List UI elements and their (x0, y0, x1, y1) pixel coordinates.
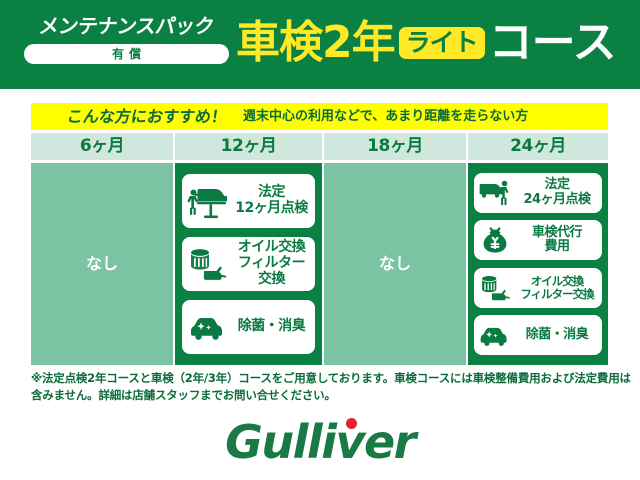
service-item-legal-12month-inspection: 法定 12ヶ月点検 (182, 174, 315, 228)
service-item-text: 法定 12ヶ月点検 (228, 185, 315, 216)
recommendation-bar: こんな方におすすめ！ 週末中心の利用などで、あまり距離を走らない方 (31, 103, 608, 130)
service-item-text: 除菌・消臭 (512, 328, 602, 343)
money-bag-yen-icon (478, 224, 512, 256)
column-header-12months: 12ヶ月 (175, 133, 322, 160)
column-header-label: 24ヶ月 (510, 138, 566, 155)
service-item-text: オイル交換 フィルター交換 (512, 275, 602, 301)
column-header-18months: 18ヶ月 (324, 133, 466, 160)
service-item-text: 車検代行 費用 (512, 226, 602, 255)
service-item-text: 法定 24ヶ月点検 (512, 178, 602, 207)
column-header-label: 12ヶ月 (221, 138, 277, 155)
maintenance-pack-block: メンテナンスパック 有償 (24, 16, 229, 64)
maintenance-schedule-table: 6ヶ月 なし 12ヶ月 (31, 133, 608, 365)
column-body-12months: 法定 12ヶ月点検 (175, 163, 322, 365)
advertisement-page: メンテナンスパック 有償 車検2年 ライト コース こんな方におすすめ！ 週末中… (0, 0, 640, 480)
paid-badge-label: 有償 (107, 48, 146, 60)
car-on-lift-inspection-icon (186, 181, 228, 221)
service-item-text: オイル交換 フィルター 交換 (228, 240, 315, 287)
service-item-inspection-agency-fee: 車検代行 費用 (474, 220, 602, 260)
disclaimer-line-2: 含みません。詳細は店舗スタッフまでお問い合せください。 (31, 387, 611, 404)
column-header-6months: 6ヶ月 (31, 133, 173, 160)
header-banner: メンテナンスパック 有償 車検2年 ライト コース (0, 0, 640, 89)
recommendation-title: こんな方におすすめ！ (66, 109, 228, 125)
brand-logo: Gulliver (0, 414, 640, 470)
table-column-18months: 18ヶ月 なし (324, 133, 466, 365)
service-item-sanitize-deodorize: 除菌・消臭 (474, 315, 602, 355)
column-body-6months: なし (31, 163, 173, 365)
service-item-text: 除菌・消臭 (228, 319, 315, 335)
service-item-oil-filter-change: オイル交換 フィルター交換 (474, 268, 602, 308)
car-sparkle-sanitize-icon (186, 307, 228, 347)
table-column-24months: 24ヶ月 (468, 133, 608, 365)
oil-filter-and-oil-can-icon (478, 272, 512, 304)
headline-course: コース (489, 21, 616, 65)
column-body-24months: 法定 24ヶ月点検 (468, 163, 608, 365)
car-inspection-person-icon (478, 177, 512, 209)
car-sparkle-sanitize-icon (478, 319, 512, 351)
disclaimer-line-1: ※法定点検2年コースと車検（2年/3年）コースをご用意しております。車検コースに… (31, 370, 611, 387)
column-body-18months: なし (324, 163, 466, 365)
disclaimer-note: ※法定点検2年コースと車検（2年/3年）コースをご用意しております。車検コースに… (31, 370, 611, 405)
service-item-oil-filter-change: オイル交換 フィルター 交換 (182, 237, 315, 291)
light-course-badge-label: ライト (406, 30, 478, 55)
paid-badge: 有償 (24, 44, 229, 64)
headline-block: 車検2年 ライト コース (236, 12, 615, 74)
column-header-label: 6ヶ月 (80, 138, 124, 155)
column-header-label: 18ヶ月 (367, 138, 423, 155)
none-label: なし (379, 256, 411, 272)
recommendation-detail: 週末中心の利用などで、あまり距離を走らない方 (243, 110, 528, 123)
table-column-6months: 6ヶ月 なし (31, 133, 173, 365)
none-label: なし (86, 256, 118, 272)
service-item-sanitize-deodorize: 除菌・消臭 (182, 300, 315, 354)
light-course-badge: ライト (399, 27, 485, 59)
service-item-legal-24month-inspection: 法定 24ヶ月点検 (474, 173, 602, 213)
brand-logo-text: Gulliver (225, 415, 415, 469)
brand-logo-inner: Gulliver (225, 419, 415, 465)
headline-shaken-2year: 車検2年 (236, 21, 395, 65)
column-header-24months: 24ヶ月 (468, 133, 608, 160)
maintenance-pack-label: メンテナンスパック (23, 16, 231, 36)
oil-filter-and-oil-can-icon (186, 244, 228, 284)
table-column-12months: 12ヶ月 (175, 133, 322, 365)
